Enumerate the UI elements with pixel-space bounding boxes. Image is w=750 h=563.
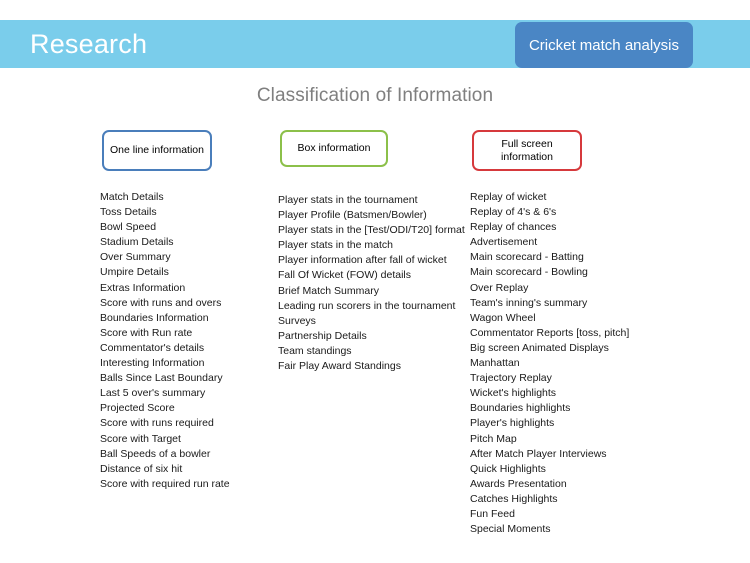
item-list-one-line-information: Match Details Toss Details Bowl Speed St… (100, 190, 275, 492)
list-item: Boundaries Information (100, 311, 275, 326)
list-item: Score with Run rate (100, 326, 275, 341)
list-item: Fun Feed (470, 507, 670, 522)
list-item: Wagon Wheel (470, 311, 670, 326)
list-item: Partnership Details (278, 329, 468, 344)
item-list-full-screen-information: Replay of wicket Replay of 4's & 6's Rep… (470, 190, 670, 537)
list-item: Projected Score (100, 401, 275, 416)
list-item: Over Replay (470, 281, 670, 296)
list-item: Quick Highlights (470, 462, 670, 477)
list-item: Surveys (278, 314, 468, 329)
page-title: Research (30, 27, 147, 61)
list-item: Extras Information (100, 281, 275, 296)
category-box-box-information[interactable]: Box information (280, 130, 388, 167)
list-item: Big screen Animated Displays (470, 341, 670, 356)
column-one-line-information: One line information Match Details Toss … (100, 130, 275, 492)
list-item: Commentator Reports [toss, pitch] (470, 326, 670, 341)
list-item: After Match Player Interviews (470, 447, 670, 462)
list-item: Brief Match Summary (278, 284, 468, 299)
list-item: Distance of six hit (100, 462, 275, 477)
list-item: Fall Of Wicket (FOW) details (278, 268, 468, 283)
column-box-information: Box information Player stats in the tour… (278, 130, 468, 374)
list-item: Replay of 4's & 6's (470, 205, 670, 220)
list-item: Advertisement (470, 235, 670, 250)
list-item: Main scorecard - Batting (470, 250, 670, 265)
list-item: Player's highlights (470, 416, 670, 431)
list-item: Special Moments (470, 522, 670, 537)
topic-badge: Cricket match analysis (515, 22, 693, 68)
list-item: Manhattan (470, 356, 670, 371)
slide-heading: Classification of Information (0, 85, 750, 107)
list-item: Umpire Details (100, 265, 275, 280)
list-item: Score with Target (100, 432, 275, 447)
list-item: Catches Highlights (470, 492, 670, 507)
category-box-full-screen-information[interactable]: Full screen information (472, 130, 582, 171)
list-item: Last 5 over's summary (100, 386, 275, 401)
list-item: Player stats in the [Test/ODI/T20] forma… (278, 223, 468, 238)
column-full-screen-information: Full screen information Replay of wicket… (470, 130, 670, 537)
list-item: Player stats in the match (278, 238, 468, 253)
list-item: Player Profile (Batsmen/Bowler) (278, 208, 468, 223)
list-item: Replay of chances (470, 220, 670, 235)
list-item: Player stats in the tournament (278, 193, 468, 208)
list-item: Toss Details (100, 205, 275, 220)
list-item: Trajectory Replay (470, 371, 670, 386)
list-item: Player information after fall of wicket (278, 253, 468, 268)
list-item: Over Summary (100, 250, 275, 265)
list-item: Team's inning's summary (470, 296, 670, 311)
list-item: Pitch Map (470, 432, 670, 447)
list-item: Score with runs required (100, 416, 275, 431)
list-item: Score with required run rate (100, 477, 275, 492)
list-item: Wicket's highlights (470, 386, 670, 401)
list-item: Main scorecard - Bowling (470, 265, 670, 280)
list-item: Interesting Information (100, 356, 275, 371)
list-item: Leading run scorers in the tournament (278, 299, 468, 314)
item-list-box-information: Player stats in the tournament Player Pr… (278, 193, 468, 374)
list-item: Match Details (100, 190, 275, 205)
list-item: Stadium Details (100, 235, 275, 250)
list-item: Awards Presentation (470, 477, 670, 492)
list-item: Ball Speeds of a bowler (100, 447, 275, 462)
list-item: Boundaries highlights (470, 401, 670, 416)
list-item: Fair Play Award Standings (278, 359, 468, 374)
list-item: Score with runs and overs (100, 296, 275, 311)
list-item: Bowl Speed (100, 220, 275, 235)
list-item: Commentator's details (100, 341, 275, 356)
list-item: Replay of wicket (470, 190, 670, 205)
list-item: Team standings (278, 344, 468, 359)
category-box-one-line-information[interactable]: One line information (102, 130, 212, 171)
list-item: Balls Since Last Boundary (100, 371, 275, 386)
